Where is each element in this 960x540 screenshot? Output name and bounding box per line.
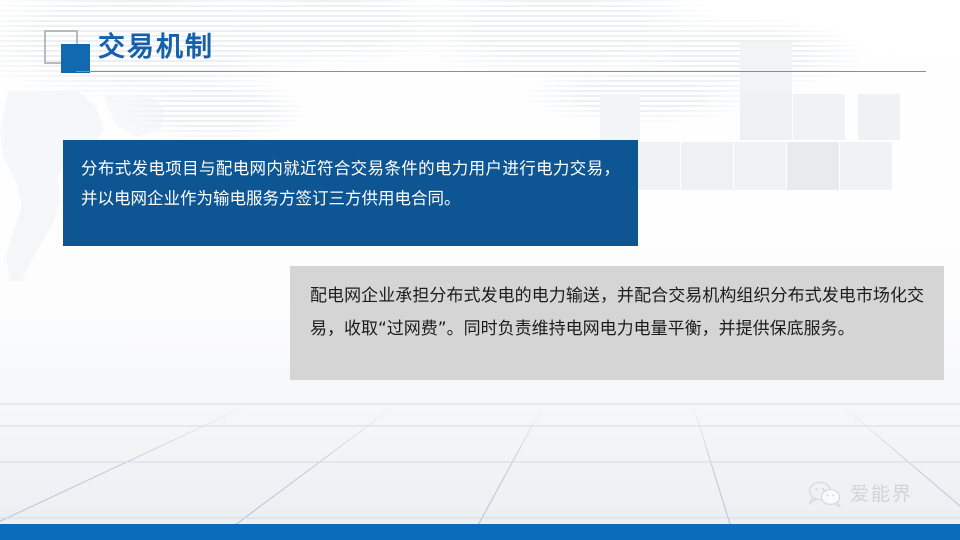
bottom-accent-bar bbox=[0, 524, 960, 540]
perspective-floor-grid bbox=[0, 380, 960, 540]
title-divider bbox=[76, 71, 926, 72]
title-decoration-icon bbox=[44, 30, 90, 74]
callout-blue: 分布式发电项目与配电网内就近符合交易条件的电力用户进行电力交易，并以电网企业作为… bbox=[63, 140, 638, 246]
watermark-brand: 爱能界 bbox=[850, 482, 913, 506]
callout-blue-text: 分布式发电项目与配电网内就近符合交易条件的电力用户进行电力交易，并以电网企业作为… bbox=[81, 154, 620, 214]
slide-header: 交易机制 bbox=[0, 0, 960, 90]
callout-gray-text: 配电网企业承担分布式发电的电力输送，并配合交易机构组织分布式发电市场化交易，收取… bbox=[310, 280, 924, 346]
callout-gray: 配电网企业承担分布式发电的电力输送，并配合交易机构组织分布式发电市场化交易，收取… bbox=[290, 266, 944, 380]
slide: 交易机制 分布式发电项目与配电网内就近符合交易条件的电力用户进行电力交易，并以电… bbox=[0, 0, 960, 540]
watermark: 爱能界 bbox=[808, 481, 913, 507]
wechat-icon bbox=[808, 481, 842, 507]
page-title: 交易机制 bbox=[98, 30, 214, 64]
square-solid-icon bbox=[61, 44, 90, 73]
